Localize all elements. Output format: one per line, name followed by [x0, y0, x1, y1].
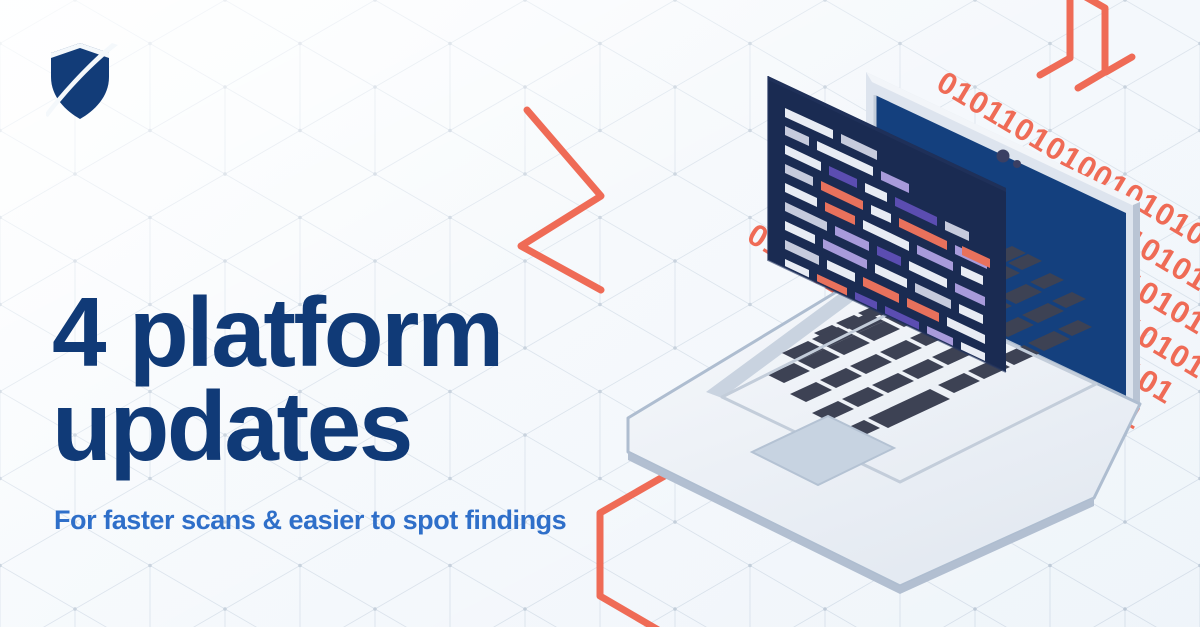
brand-logo[interactable] — [46, 41, 120, 123]
page-title: 4 platform updates — [52, 285, 672, 473]
hero-text-block: 4 platform updates For faster scans & ea… — [52, 285, 672, 536]
hero-banner: 01011010100101010101010 0101010100101010… — [0, 0, 1200, 627]
page-subtitle: For faster scans & easier to spot findin… — [54, 505, 672, 536]
shield-swoosh-icon — [46, 43, 118, 119]
